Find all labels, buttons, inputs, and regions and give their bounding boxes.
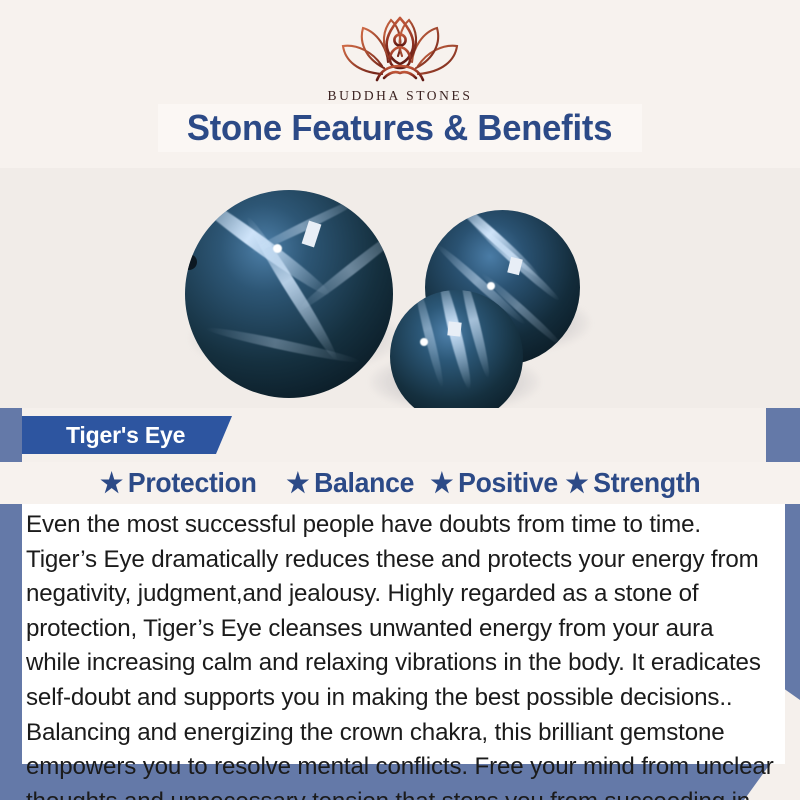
product-photo [0, 168, 800, 408]
poster-canvas: BUDDHA STONES Stone Features & Benefits [0, 0, 800, 800]
benefit-label: Positive [458, 467, 558, 499]
title-banner: Stone Features & Benefits [158, 104, 642, 152]
brand-logo: BUDDHA STONES [0, 10, 800, 104]
star-icon: ★ [286, 470, 309, 497]
benefit-label: Balance [314, 467, 414, 499]
lotus-meditation-icon [337, 10, 463, 86]
brand-name: BUDDHA STONES [0, 88, 800, 104]
benefit-protection: ★ Protection [100, 467, 256, 499]
star-icon: ★ [430, 470, 453, 497]
description-panel: Even the most successful people have dou… [22, 504, 785, 764]
benefit-balance: ★ Balance [286, 467, 414, 499]
benefit-strength: ★ Strength [566, 467, 701, 499]
star-icon: ★ [100, 470, 123, 497]
benefit-positive: ★ Positive [430, 467, 557, 499]
benefits-row: ★ Protection ★ Balance ★ Positive ★ Stre… [0, 462, 800, 504]
benefit-label: Strength [594, 467, 701, 499]
stone-name-banner: Tiger's Eye [22, 416, 232, 454]
stone-name: Tiger's Eye [22, 422, 185, 449]
description-text: Even the most successful people have dou… [26, 508, 774, 800]
page-title: Stone Features & Benefits [187, 107, 612, 149]
star-icon: ★ [566, 470, 589, 497]
gemstone-sphere-large [185, 190, 393, 398]
benefit-label: Protection [128, 467, 257, 499]
